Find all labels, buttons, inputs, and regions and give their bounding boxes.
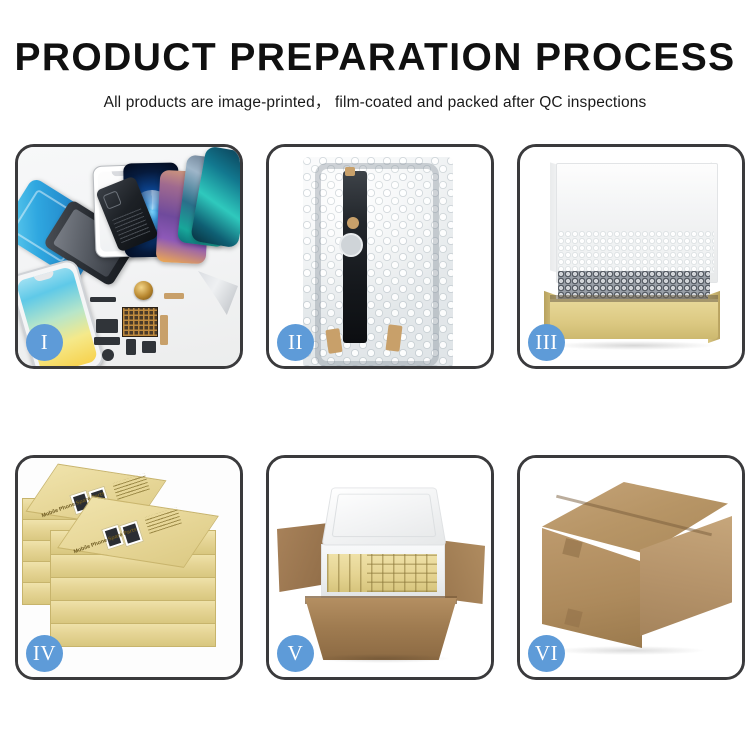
step-badge-3: III — [528, 324, 565, 361]
chip-grid-part — [122, 307, 158, 337]
tape-tab-middle — [347, 217, 359, 229]
part-ribbon — [160, 315, 168, 345]
stack-box-front-5 — [50, 622, 216, 647]
page-title: PRODUCT PREPARATION PROCESS — [0, 38, 750, 77]
part-speaker — [102, 349, 114, 361]
step-badge-1: I — [26, 324, 63, 361]
step-badge-6: VI — [528, 635, 565, 672]
part-strip — [90, 297, 116, 302]
stack-box-front-3 — [50, 576, 216, 601]
wrapped-phone-part — [343, 171, 367, 343]
white-foam-layer — [558, 231, 714, 273]
stack-box-front-4 — [50, 599, 216, 624]
part-clip — [126, 339, 136, 355]
part-flex-cable — [164, 293, 184, 299]
step-panel-1: I — [15, 144, 243, 369]
steps-grid: I II — [15, 144, 735, 680]
page-subtitle: All products are image-printed， film-coa… — [0, 90, 750, 112]
step-panel-6: VI — [517, 455, 745, 680]
step-badge-5: V — [277, 635, 314, 672]
step-panel-3: III — [517, 144, 745, 369]
part-camera-module — [142, 341, 156, 353]
header: PRODUCT PREPARATION PROCESS All products… — [0, 0, 750, 112]
step-badge-2: II — [277, 324, 314, 361]
product-preparation-infographic: PRODUCT PREPARATION PROCESS All products… — [0, 0, 750, 750]
foam-cooler-lid — [322, 488, 447, 546]
part-connector — [94, 337, 120, 345]
step-panel-5: V — [266, 455, 494, 680]
spare-parts-cluster — [90, 281, 210, 366]
tape-tab-top — [345, 167, 355, 176]
yellow-box-front — [550, 299, 718, 339]
part-bracket — [96, 319, 118, 333]
step-badge-4: IV — [26, 635, 63, 672]
carton-shadow — [315, 654, 449, 663]
part-ring — [339, 233, 363, 257]
step-panel-2: II — [266, 144, 494, 369]
packed-yellow-boxes — [327, 554, 437, 592]
box-rim — [550, 295, 718, 302]
carton-shadow — [554, 646, 704, 655]
box-shadow — [554, 341, 714, 350]
carton-front — [305, 598, 457, 660]
step-panel-4: Mobile Phone Spare Parts Mobile Phone Sp… — [15, 455, 243, 680]
gold-coil-part — [134, 281, 153, 300]
